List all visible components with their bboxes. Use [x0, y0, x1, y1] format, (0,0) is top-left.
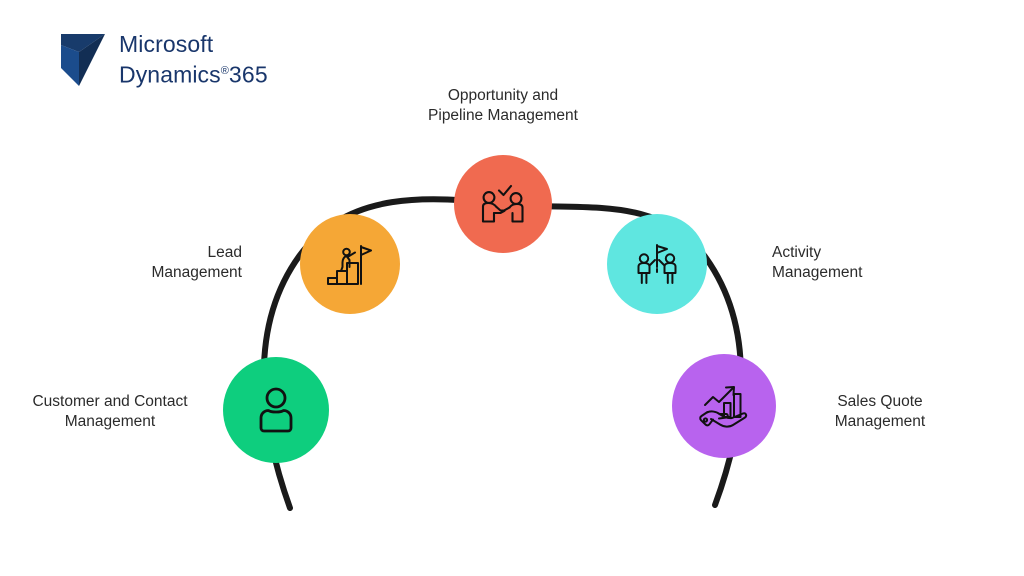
label-line-2: Management — [772, 263, 972, 283]
diagram-canvas: Microsoft Dynamics®365 — [0, 0, 1024, 576]
label-activity-management: Activity Management — [772, 243, 972, 283]
label-sales-quote: Sales Quote Management — [790, 392, 970, 432]
node-lead-management[interactable] — [300, 214, 400, 314]
team-flag-icon — [631, 239, 683, 289]
node-customer-contact[interactable] — [223, 357, 329, 463]
node-opportunity-pipeline[interactable] — [454, 155, 552, 253]
handshake-check-icon — [476, 182, 530, 226]
node-activity-management[interactable] — [607, 214, 707, 314]
label-line-1: Lead — [66, 243, 242, 263]
label-line-2: Management — [790, 412, 970, 432]
label-line-2: Pipeline Management — [383, 106, 623, 126]
label-line-1: Activity — [772, 243, 972, 263]
label-line-1: Sales Quote — [790, 392, 970, 412]
stairs-flag-climb-icon — [324, 238, 376, 290]
label-line-1: Customer and Contact — [5, 392, 215, 412]
hand-growth-chart-icon — [697, 380, 751, 432]
label-line-1: Opportunity and — [383, 86, 623, 106]
label-line-2: Management — [66, 263, 242, 283]
label-customer-contact: Customer and Contact Management — [5, 392, 215, 432]
node-sales-quote[interactable] — [672, 354, 776, 458]
label-lead-management: Lead Management — [66, 243, 242, 283]
label-opportunity-pipeline: Opportunity and Pipeline Management — [383, 86, 623, 126]
person-user-icon — [252, 384, 300, 436]
label-line-2: Management — [5, 412, 215, 432]
